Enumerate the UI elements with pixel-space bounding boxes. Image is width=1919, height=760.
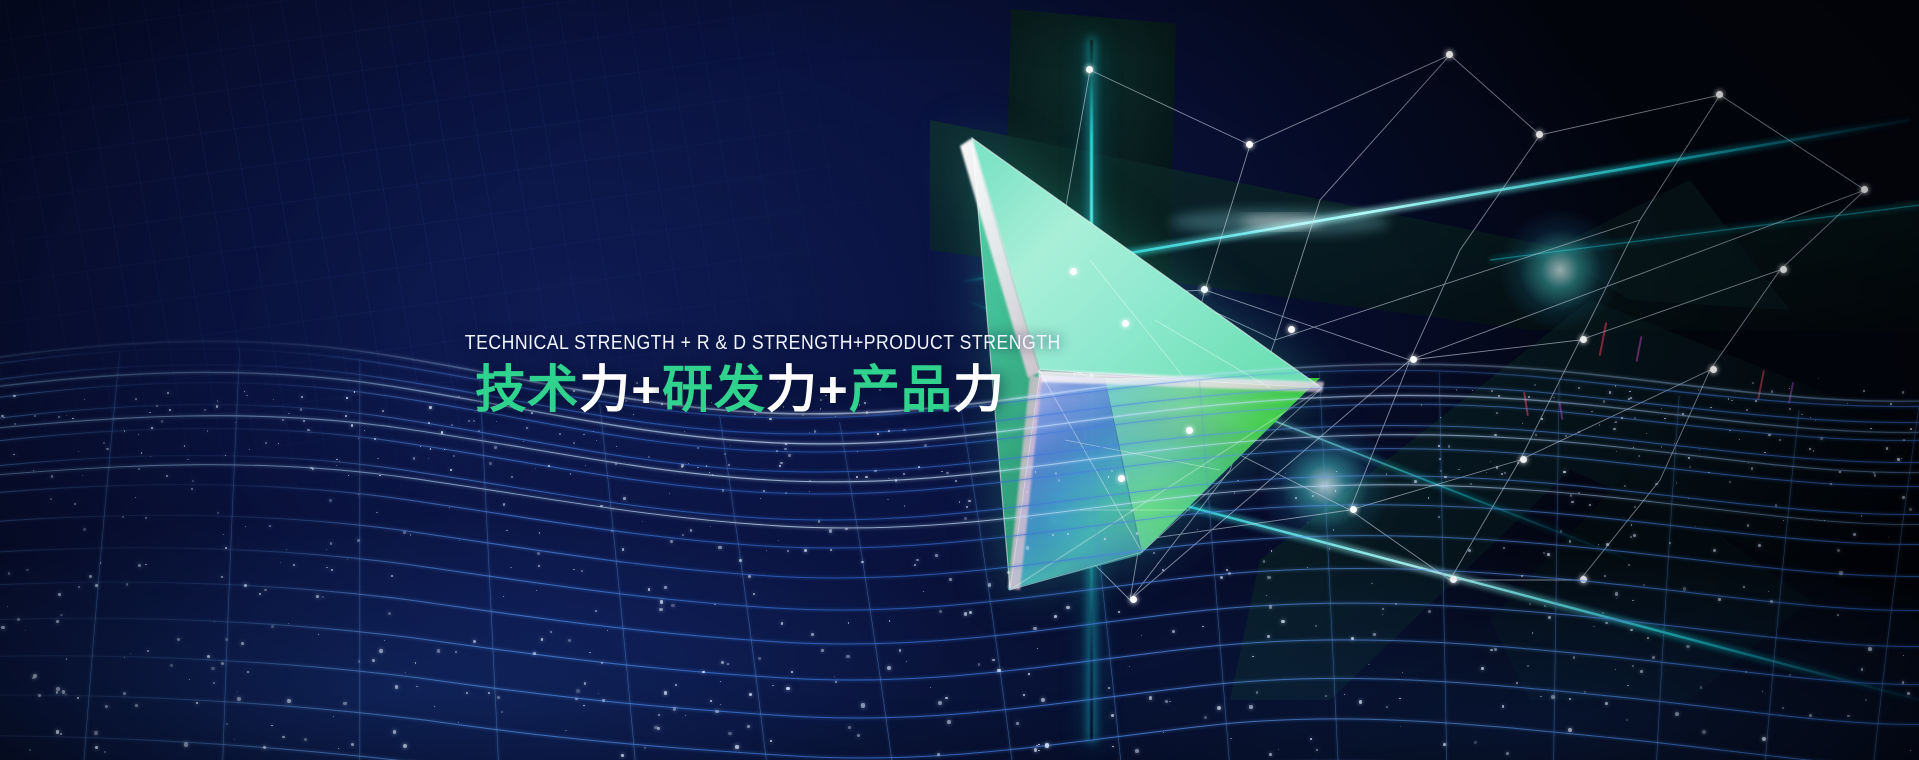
- particle-dot: [1007, 571, 1010, 574]
- particle-dot: [675, 684, 677, 686]
- particle-dot: [660, 600, 664, 604]
- particle-dot: [1593, 626, 1594, 627]
- particle-dot: [1036, 745, 1037, 746]
- particle-dot: [1230, 738, 1231, 739]
- headline-seg-7: 力: [953, 361, 1005, 418]
- particle-dot: [721, 661, 724, 664]
- particle-dot: [234, 739, 235, 740]
- particle-dot: [1026, 491, 1028, 493]
- particle-dot: [377, 458, 379, 460]
- particle-dot: [300, 408, 302, 410]
- particle-dot: [964, 612, 967, 615]
- particle-dot: [1468, 549, 1471, 552]
- particle-dot: [1295, 497, 1297, 499]
- particle-dot: [1458, 469, 1460, 471]
- particle-dot: [684, 431, 685, 432]
- particle-dot: [712, 474, 713, 475]
- particle-dot: [138, 564, 141, 567]
- particle-dot: [217, 400, 219, 402]
- particle-dot: [216, 405, 218, 407]
- particle-dot: [845, 528, 847, 530]
- particle-dot: [887, 666, 891, 670]
- particle-dot: [1522, 423, 1523, 424]
- particle-dot: [282, 736, 285, 739]
- particle-dot: [1547, 553, 1550, 556]
- particle-dot: [413, 457, 416, 460]
- particle-dot: [100, 562, 101, 563]
- particle-dot: [1810, 417, 1811, 418]
- headline-seg-0: 技术: [475, 361, 579, 418]
- particle-dot: [453, 455, 455, 457]
- particle-dot: [780, 462, 782, 464]
- particle-dot: [488, 692, 490, 694]
- particle-dot: [1028, 673, 1030, 675]
- particle-dot: [538, 565, 540, 567]
- particle-dot: [1874, 474, 1876, 476]
- particle-dot: [473, 420, 475, 422]
- particle-dot: [62, 690, 65, 693]
- particle-dot: [914, 564, 916, 566]
- particle-dot: [584, 682, 587, 685]
- particle-dot: [935, 554, 938, 557]
- particle-dot: [1604, 575, 1606, 577]
- particle-dot: [1655, 483, 1658, 486]
- hero-subtitle: TECHNICAL STRENGTH + R & D STRENGTH+PROD…: [465, 333, 1015, 354]
- particle-dot: [1751, 467, 1754, 470]
- particle-dot: [966, 506, 968, 508]
- particle-dot: [861, 703, 865, 707]
- particle-dot: [34, 415, 36, 417]
- particle-dot: [648, 588, 650, 590]
- headline-seg-1: 力: [579, 361, 631, 418]
- particle-dot: [1634, 417, 1636, 419]
- particle-dot: [451, 424, 453, 426]
- particle-dot: [937, 753, 940, 756]
- particle-dot: [346, 397, 348, 399]
- particle-dot: [1026, 546, 1029, 549]
- particle-dot: [1402, 672, 1404, 674]
- headline-seg-5: +: [818, 361, 849, 418]
- particle-dot: [1563, 471, 1565, 473]
- particle-dot: [1731, 400, 1732, 401]
- particle-dot: [331, 569, 333, 571]
- particle-dot: [804, 549, 806, 551]
- particle-dot: [1613, 428, 1615, 430]
- particle-dot: [1267, 635, 1270, 638]
- headline-seg-6: 产品: [849, 361, 953, 418]
- particle-dot: [1351, 637, 1354, 640]
- particle-dot: [1131, 509, 1134, 512]
- particle-dot: [347, 559, 348, 560]
- particle-dot: [1491, 390, 1493, 392]
- particle-dot: [1035, 471, 1037, 473]
- particle-dot: [1702, 730, 1706, 734]
- particle-dot: [523, 441, 524, 442]
- particle-dot: [1438, 516, 1440, 518]
- particle-dot: [1153, 552, 1155, 554]
- particle-dot: [1516, 682, 1518, 684]
- particle-dot: [903, 429, 905, 431]
- particle-dot: [1, 626, 4, 629]
- particle-dot: [1743, 586, 1745, 588]
- network-node: [1070, 268, 1077, 275]
- particle-dot: [191, 488, 193, 490]
- particle-dot: [1252, 656, 1253, 657]
- particle-dot: [709, 472, 710, 473]
- particle-dot: [664, 691, 668, 695]
- particle-dot: [573, 442, 575, 444]
- page-title: 技术力+研发力+产品力: [420, 363, 1060, 417]
- particle-dot: [82, 475, 83, 476]
- particle-dot: [710, 526, 711, 527]
- particle-dot: [720, 704, 721, 705]
- particle-dot: [788, 454, 790, 456]
- particle-dot: [1902, 496, 1904, 498]
- hero-text-block: TECHNICAL STRENGTH + R & D STRENGTH+PROD…: [420, 333, 1060, 417]
- particle-dot: [26, 569, 28, 571]
- particle-dot: [156, 405, 158, 407]
- particle-dot: [494, 446, 496, 448]
- particle-dot: [95, 584, 98, 587]
- particle-dot: [329, 499, 332, 502]
- particle-dot: [38, 694, 41, 697]
- particle-dot: [1504, 472, 1506, 474]
- particle-dot: [1386, 473, 1387, 474]
- particle-dot: [1629, 391, 1630, 392]
- particle-dot: [379, 649, 383, 653]
- particle-dot: [1444, 476, 1447, 479]
- particle-dot: [611, 530, 613, 532]
- particle-dot: [1506, 752, 1509, 755]
- particle-dot: [1118, 611, 1120, 613]
- particle-dot: [184, 445, 186, 447]
- particle-dot: [450, 469, 452, 471]
- particle-dot: [581, 570, 583, 572]
- particle-dot: [60, 614, 63, 617]
- particle-dot: [623, 497, 626, 500]
- particle-dot: [992, 659, 995, 662]
- particle-dot: [1033, 627, 1036, 630]
- particle-dot: [1052, 534, 1054, 536]
- particle-dot: [1521, 575, 1523, 577]
- particle-dot: [1628, 564, 1630, 566]
- particle-dot: [550, 631, 552, 633]
- particle-dot: [1686, 645, 1690, 649]
- particle-dot: [265, 442, 267, 444]
- particle-dot: [1359, 700, 1363, 704]
- particle-dot: [1197, 529, 1198, 530]
- particle-dot: [1494, 648, 1497, 651]
- particle-dot: [888, 430, 890, 432]
- particle-dot: [728, 732, 731, 735]
- particle-dot: [621, 754, 624, 757]
- particle-dot: [1708, 472, 1709, 473]
- particle-dot: [1615, 592, 1618, 595]
- particle-dot: [1676, 482, 1678, 484]
- particle-dot: [497, 696, 500, 699]
- particle-dot: [263, 746, 266, 749]
- particle-dot: [269, 525, 271, 527]
- particle-dot: [1503, 547, 1505, 549]
- particle-dot: [718, 546, 721, 549]
- particle-dot: [29, 749, 31, 751]
- particle-dot: [673, 707, 676, 710]
- particle-dot: [964, 517, 967, 520]
- particle-dot: [1560, 530, 1562, 532]
- particle-dot: [1747, 524, 1750, 527]
- particle-dot: [583, 434, 585, 436]
- particle-dot: [1820, 437, 1823, 440]
- particle-dot: [681, 466, 682, 467]
- particle-dot: [1902, 391, 1904, 393]
- particle-dot: [1632, 665, 1634, 667]
- particle-dot: [204, 409, 206, 411]
- particle-dot: [1718, 598, 1721, 601]
- particle-dot: [1502, 705, 1504, 707]
- particle-dot: [1602, 612, 1604, 614]
- particle-dot: [1762, 737, 1766, 741]
- particle-dot: [468, 420, 470, 422]
- particle-dot: [286, 549, 287, 550]
- particle-dot: [671, 604, 674, 607]
- particle-dot: [1045, 743, 1049, 747]
- particle-dot: [1634, 506, 1636, 508]
- particle-dot: [1169, 701, 1171, 703]
- particle-dot: [339, 461, 340, 462]
- particle-dot: [56, 730, 59, 733]
- particle-dot: [415, 662, 417, 664]
- particle-dot: [690, 529, 692, 531]
- particle-dot: [310, 467, 313, 470]
- particle-dot: [145, 564, 146, 565]
- particle-dot: [441, 431, 443, 433]
- particle-dot: [1683, 587, 1686, 590]
- particle-dot: [333, 716, 334, 717]
- particle-dot: [1108, 687, 1110, 689]
- particle-dot: [358, 438, 359, 439]
- particle-dot: [1770, 600, 1772, 602]
- particle-dot: [94, 731, 98, 735]
- particle-dot: [1699, 449, 1700, 450]
- particle-dot: [533, 652, 536, 655]
- particle-dot: [903, 473, 905, 475]
- particle-dot: [1217, 706, 1221, 710]
- particle-dot: [1325, 695, 1327, 697]
- particle-dot: [697, 467, 698, 468]
- particle-dot: [83, 528, 86, 531]
- particle-dot: [372, 659, 375, 662]
- particle-dot: [17, 618, 20, 621]
- particle-dot: [358, 660, 360, 662]
- particle-dot: [1626, 719, 1628, 721]
- network-node: [1861, 186, 1868, 193]
- particle-dot: [1544, 605, 1546, 607]
- particle-dot: [161, 420, 164, 423]
- particle-dot: [1414, 480, 1417, 483]
- particle-dot: [1263, 560, 1266, 563]
- particle-dot: [1386, 706, 1388, 708]
- particle-dot: [821, 649, 824, 652]
- particle-dot: [1631, 524, 1632, 525]
- particle-dot: [478, 430, 480, 432]
- particle-dot: [1038, 744, 1039, 745]
- particle-dot: [1037, 648, 1038, 649]
- hero-banner: TECHNICAL STRENGTH + R & D STRENGTH+PROD…: [0, 0, 1919, 760]
- particle-dot: [1256, 691, 1259, 694]
- particle-dot: [1134, 502, 1135, 503]
- particle-dot: [307, 429, 309, 431]
- particle-dot: [78, 451, 79, 452]
- particle-dot: [770, 740, 772, 742]
- particle-dot: [1111, 470, 1113, 472]
- particle-dot: [702, 671, 705, 674]
- particle-dot: [1310, 738, 1312, 740]
- particle-dot: [829, 529, 832, 532]
- particle-dot: [749, 693, 752, 696]
- particle-dot: [259, 593, 260, 594]
- particle-dot: [865, 476, 867, 478]
- particle-dot: [601, 662, 603, 664]
- particle-dot: [1490, 649, 1493, 652]
- particle-dot: [1768, 434, 1770, 436]
- network-node: [1716, 91, 1723, 98]
- particle-dot: [32, 677, 34, 679]
- particle-dot: [103, 442, 105, 444]
- particle-dot: [1861, 668, 1863, 670]
- particle-dot: [287, 699, 291, 703]
- particle-dot: [336, 465, 337, 466]
- particle-dot: [1267, 576, 1270, 579]
- particle-dot: [1278, 749, 1279, 750]
- particle-dot: [196, 702, 198, 704]
- particle-dot: [918, 466, 920, 468]
- particle-dot: [293, 564, 295, 566]
- particle-dot: [241, 642, 244, 645]
- particle-dot: [1615, 421, 1617, 423]
- particle-dot: [1603, 400, 1605, 402]
- particle-dot: [345, 415, 347, 417]
- particle-dot: [1809, 714, 1812, 717]
- particle-dot: [1868, 647, 1872, 651]
- particle-dot: [1578, 431, 1580, 433]
- particle-dot: [947, 720, 951, 724]
- network-node: [1446, 51, 1453, 58]
- particle-dot: [1535, 434, 1536, 435]
- particle-dot: [657, 727, 660, 730]
- particle-dot: [169, 409, 171, 411]
- particle-dot: [541, 638, 544, 641]
- particle-dot: [1553, 397, 1554, 398]
- particle-dot: [622, 548, 625, 551]
- particle-dot: [357, 539, 360, 542]
- particle-dot: [814, 430, 816, 432]
- particle-dot: [271, 625, 274, 628]
- particle-dot: [968, 500, 970, 502]
- particle-dot: [669, 493, 670, 494]
- particle-dot: [395, 685, 398, 688]
- particle-dot: [978, 663, 980, 665]
- particle-dot: [301, 396, 303, 398]
- particle-dot: [1249, 705, 1253, 709]
- particle-dot: [888, 478, 889, 479]
- particle-dot: [1382, 608, 1384, 610]
- particle-dot: [997, 669, 1000, 672]
- particle-dot: [122, 516, 124, 518]
- particle-dot: [760, 498, 761, 499]
- network-node: [1122, 320, 1129, 327]
- particle-dot: [1789, 408, 1791, 410]
- particle-dot: [613, 509, 614, 510]
- particle-dot: [214, 621, 215, 622]
- particle-dot: [138, 468, 140, 470]
- particle-dot: [1104, 538, 1106, 540]
- particle-dot: [658, 714, 660, 716]
- particle-dot: [217, 512, 219, 514]
- particle-dot: [273, 399, 274, 400]
- particle-dot: [1578, 387, 1580, 389]
- particle-dot: [710, 700, 712, 702]
- particle-dot: [354, 391, 355, 392]
- particle-dot: [1569, 540, 1572, 543]
- particle-dot: [1368, 664, 1369, 665]
- particle-dot: [1633, 534, 1636, 537]
- particle-dot: [1886, 447, 1888, 449]
- particle-dot: [226, 723, 228, 725]
- particle-dot: [924, 444, 927, 447]
- particle-dot: [167, 392, 169, 394]
- particle-dot: [575, 698, 577, 700]
- particle-dot: [1599, 424, 1600, 425]
- particle-dot: [51, 475, 53, 477]
- particle-dot: [1271, 550, 1273, 552]
- particle-dot: [1640, 670, 1643, 673]
- particle-dot: [1897, 458, 1900, 461]
- particle-dot: [225, 547, 227, 549]
- particle-dot: [1839, 471, 1840, 472]
- particle-dot: [1606, 543, 1609, 546]
- particle-dot: [135, 497, 136, 498]
- particle-dot: [857, 734, 860, 737]
- particle-dot: [1688, 457, 1690, 459]
- particle-dot: [1066, 606, 1069, 609]
- particle-dot: [835, 681, 837, 683]
- particle-dot: [779, 465, 781, 467]
- particle-dot: [659, 608, 662, 611]
- particle-dot: [1839, 571, 1842, 574]
- network-node: [1086, 66, 1093, 73]
- particle-dot: [1486, 472, 1487, 473]
- particle-dot: [1801, 414, 1803, 416]
- particle-dot: [1129, 666, 1130, 667]
- particle-dot: [13, 395, 15, 397]
- particle-dot: [1371, 583, 1372, 584]
- particle-dot: [1853, 533, 1856, 536]
- particle-dot: [1333, 529, 1334, 530]
- particle-dot: [374, 438, 376, 440]
- particle-dot: [1470, 483, 1472, 485]
- particle-dot: [1890, 403, 1892, 405]
- particle-dot: [1428, 497, 1429, 498]
- particle-dot: [189, 679, 190, 680]
- particle-dot: [697, 447, 699, 449]
- particle-dot: [405, 672, 406, 673]
- particle-dot: [1745, 671, 1747, 673]
- particle-dot: [1847, 715, 1850, 718]
- particle-dot: [1055, 472, 1058, 475]
- particle-dot: [1713, 549, 1716, 552]
- particle-dot: [642, 521, 643, 522]
- particle-dot: [1647, 637, 1649, 639]
